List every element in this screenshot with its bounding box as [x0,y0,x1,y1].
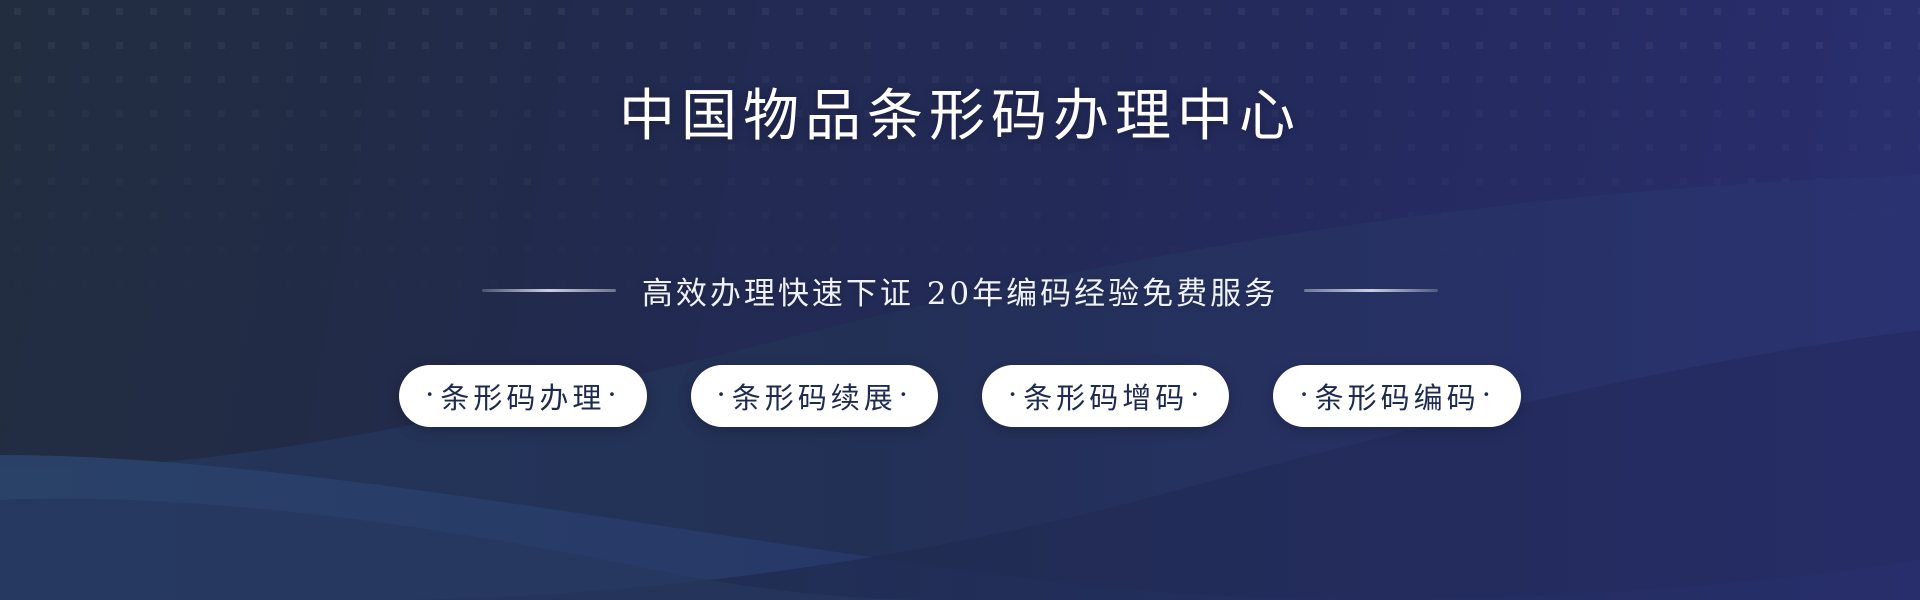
service-pill-label: 条形码续展 [730,375,899,417]
bullet-dot-left: · [425,380,438,409]
service-pill-barcode-add[interactable]: · 条形码增码 · [982,365,1229,427]
service-pill-label: 条形码编码 [1313,375,1482,417]
subtitle-text: 高效办理快速下证 20年编码经验免费服务 [642,268,1278,313]
subtitle-row: 高效办理快速下证 20年编码经验免费服务 [482,268,1438,313]
right-rule-divider [1304,289,1438,292]
bullet-dot-right: · [1190,380,1203,409]
service-pill-row: · 条形码办理 · · 条形码续展 · · 条形码增码 · · 条形码编码 · [399,365,1521,427]
service-pill-label: 条形码办理 [438,375,607,417]
bullet-dot-left: · [1299,380,1312,409]
bullet-dot-left: · [717,380,730,409]
bullet-dot-right: · [607,380,620,409]
page-title: 中国物品条形码办理中心 [619,88,1301,147]
service-pill-barcode-apply[interactable]: · 条形码办理 · [399,365,646,427]
bullet-dot-right: · [1482,380,1495,409]
bullet-dot-left: · [1008,380,1021,409]
left-rule-divider [482,289,616,292]
service-pill-barcode-encode[interactable]: · 条形码编码 · [1273,365,1520,427]
banner-content: 中国物品条形码办理中心 高效办理快速下证 20年编码经验免费服务 · 条形码办理… [0,0,1920,600]
bullet-dot-right: · [899,380,912,409]
service-pill-label: 条形码增码 [1021,375,1190,417]
promo-banner: 中国物品条形码办理中心 高效办理快速下证 20年编码经验免费服务 · 条形码办理… [0,0,1920,600]
service-pill-barcode-renew[interactable]: · 条形码续展 · [691,365,938,427]
